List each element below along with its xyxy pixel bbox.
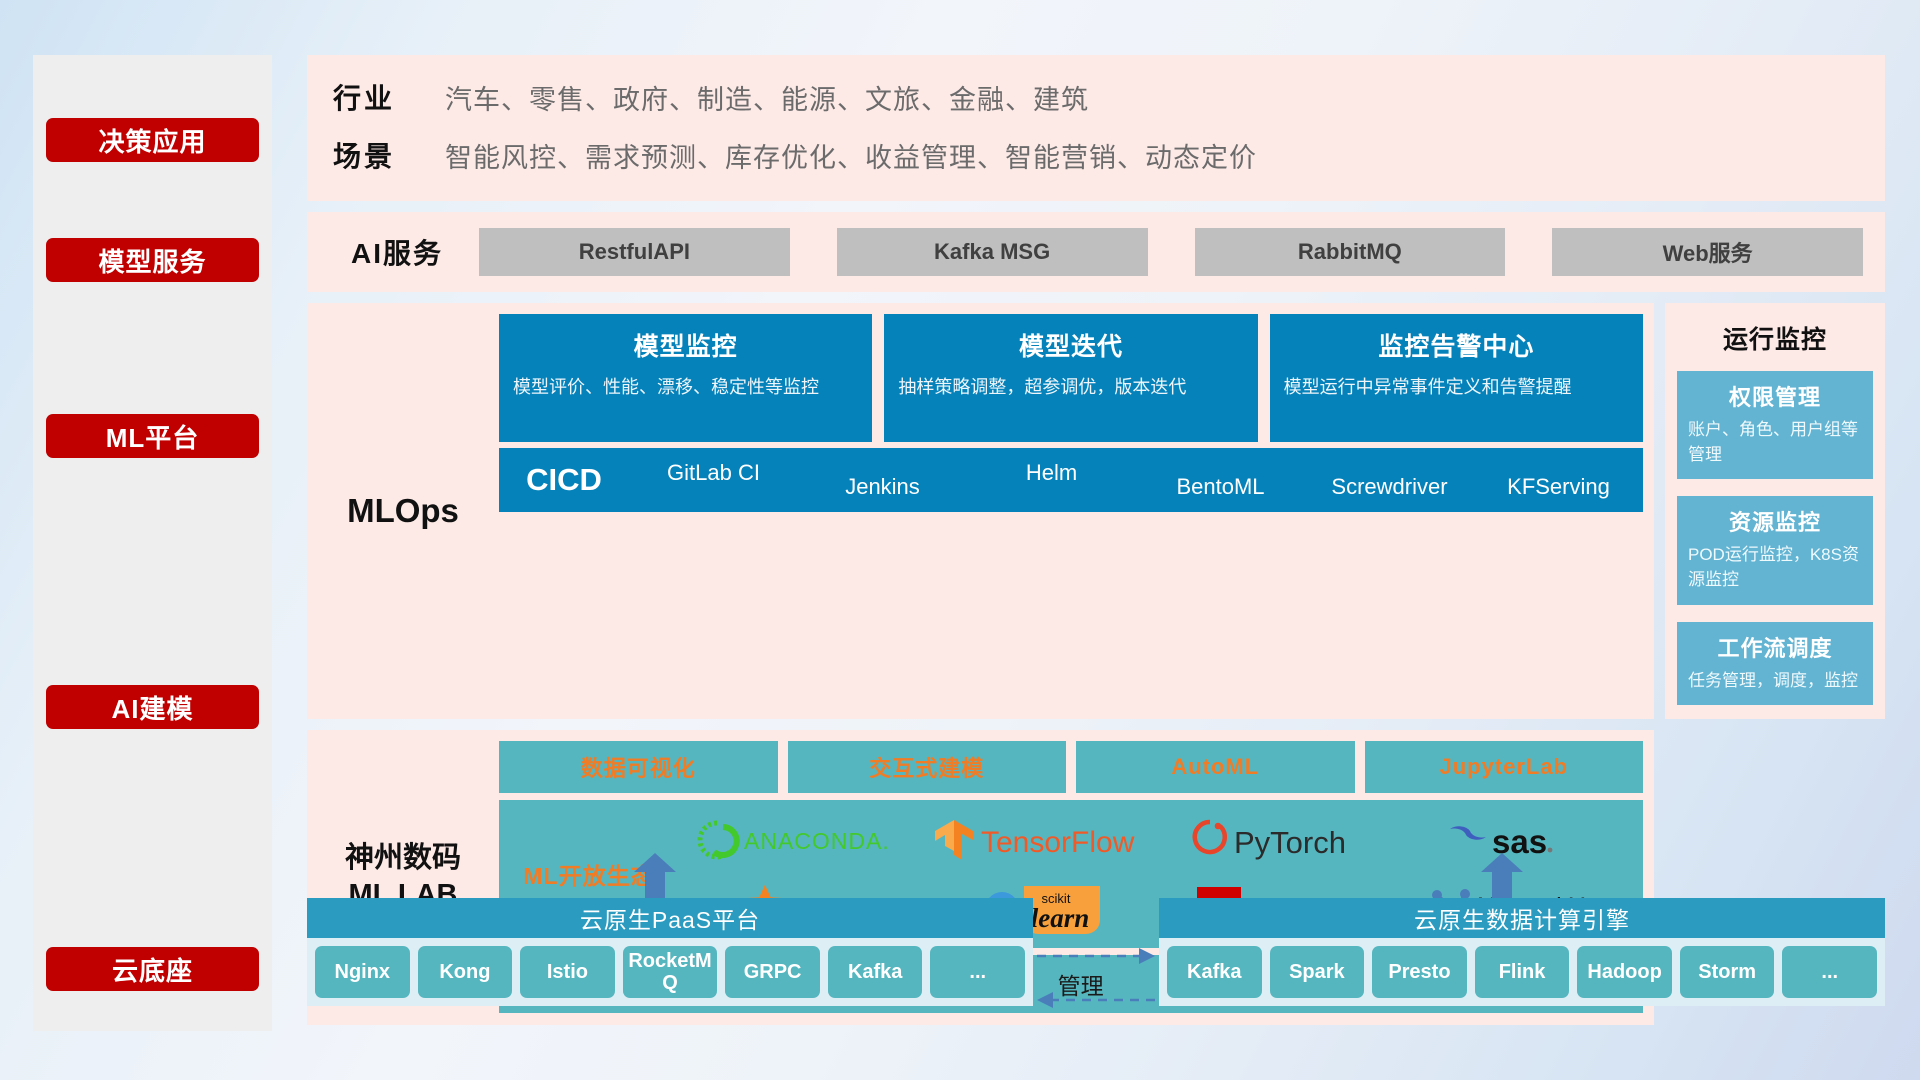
cloud-native-data-engine-box: 云原生数据计算引擎 Kafka Spark Presto Flink Hadoo… — [1159, 898, 1885, 1006]
ai-service-chip-restfulapi[interactable]: RestfulAPI — [479, 228, 790, 276]
cloud-native-paas-title: 云原生PaaS平台 — [307, 898, 1033, 938]
mlops-content: 模型监控 模型评价、性能、漂移、稳定性等监控 模型迭代 抽样策略调整，超参调优，… — [499, 314, 1643, 708]
card-title: 模型监控 — [513, 327, 858, 363]
industry-key: 行业 — [333, 77, 445, 117]
lab-tool-interactive-modeling[interactable]: 交互式建模 — [788, 741, 1067, 793]
paas-pill-kafka[interactable]: Kafka — [828, 946, 923, 998]
svg-text:TensorFlow: TensorFlow — [981, 826, 1135, 859]
cloud-native-paas-pill-list: Nginx Kong Istio RocketMQ GRPC Kafka ... — [307, 938, 1033, 1006]
ml-lab-tool-list: 数据可视化 交互式建模 AutoML JupyterLab — [499, 741, 1643, 793]
cicd-item-gitlab-ci[interactable]: GitLab CI — [629, 462, 798, 498]
layer-chip-label: 决策应用 — [98, 122, 206, 159]
cicd-item-bentoml[interactable]: BentoML — [1136, 462, 1305, 498]
mlops-card-alert-center[interactable]: 监控告警中心 模型运行中异常事件定义和告警提醒 — [1270, 314, 1643, 442]
engine-pill-kafka[interactable]: Kafka — [1167, 946, 1262, 998]
cicd-bar: CICD GitLab CI Jenkins Helm BentoML Scre… — [499, 448, 1643, 512]
scenario-value: 智能风控、需求预测、库存优化、收益管理、智能营销、动态定价 — [445, 136, 1257, 175]
engine-pill-flink[interactable]: Flink — [1475, 946, 1570, 998]
monitor-card-resource[interactable]: 资源监控 POD运行监控，K8S资源监控 — [1677, 496, 1873, 604]
cicd-item-screwdriver[interactable]: Screwdriver — [1305, 462, 1474, 498]
ai-service-chip-web-service[interactable]: Web服务 — [1552, 228, 1863, 276]
ml-platform-row: MLOps 模型监控 模型评价、性能、漂移、稳定性等监控 模型迭代 抽样策略调整… — [307, 303, 1885, 719]
chip-label: Web服务 — [1663, 236, 1753, 268]
paas-pill-istio[interactable]: Istio — [520, 946, 615, 998]
chip-label: RestfulAPI — [579, 239, 690, 265]
card-desc: 任务管理，调度，监控 — [1688, 669, 1862, 694]
mlops-card-list: 模型监控 模型评价、性能、漂移、稳定性等监控 模型迭代 抽样策略调整，超参调优，… — [499, 314, 1643, 442]
mlops-key: MLOps — [307, 314, 499, 708]
mlops-card-model-iteration[interactable]: 模型迭代 抽样策略调整，超参调优，版本迭代 — [884, 314, 1257, 442]
engine-pill-storm[interactable]: Storm — [1680, 946, 1775, 998]
card-title: 模型迭代 — [898, 327, 1243, 363]
cloud-native-data-engine-title: 云原生数据计算引擎 — [1159, 898, 1885, 938]
layer-chip-label: 模型服务 — [98, 242, 206, 279]
ai-service-chip-rabbitmq[interactable]: RabbitMQ — [1195, 228, 1506, 276]
engine-pill-more[interactable]: ... — [1782, 946, 1877, 998]
anaconda-logo: ANACONDA. — [697, 809, 912, 871]
card-desc: 模型评价、性能、漂移、稳定性等监控 — [513, 374, 858, 400]
mlops-band: MLOps 模型监控 模型评价、性能、漂移、稳定性等监控 模型迭代 抽样策略调整… — [307, 303, 1654, 719]
card-desc: 抽样策略调整，超参调优，版本迭代 — [898, 374, 1243, 400]
card-desc: 账户、角色、用户组等管理 — [1688, 418, 1862, 467]
cicd-item-helm[interactable]: Helm — [967, 462, 1136, 498]
layer-chip-ai-modeling[interactable]: AI建模 — [46, 685, 259, 729]
paas-pill-nginx[interactable]: Nginx — [315, 946, 410, 998]
monitor-card-permission[interactable]: 权限管理 账户、角色、用户组等管理 — [1677, 371, 1873, 479]
chip-label: RabbitMQ — [1298, 239, 1402, 265]
lab-tool-jupyterlab[interactable]: JupyterLab — [1365, 741, 1644, 793]
card-title: 权限管理 — [1688, 380, 1862, 412]
card-desc: 模型运行中异常事件定义和告警提醒 — [1284, 374, 1629, 400]
cicd-label: CICD — [499, 462, 629, 498]
industry-row: 行业 汽车、零售、政府、制造、能源、文旅、金融、建筑 — [333, 77, 1859, 117]
paas-pill-more[interactable]: ... — [930, 946, 1025, 998]
architecture-stack: 行业 汽车、零售、政府、制造、能源、文旅、金融、建筑 场景 智能风控、需求预测、… — [307, 55, 1885, 1025]
sas-logo: sas — [1440, 809, 1615, 871]
card-title: 资源监控 — [1688, 505, 1862, 537]
cloud-native-paas-box: 云原生PaaS平台 Nginx Kong Istio RocketMQ GRPC… — [307, 898, 1033, 1006]
monitor-card-workflow[interactable]: 工作流调度 任务管理，调度，监控 — [1677, 622, 1873, 706]
card-title: 监控告警中心 — [1284, 327, 1629, 363]
layer-chip-label: ML平台 — [106, 418, 200, 455]
up-arrow-to-lab-icon — [632, 852, 678, 896]
bidirectional-dashed-link — [1033, 944, 1159, 1014]
layer-chip-decision-app[interactable]: 决策应用 — [46, 118, 259, 162]
industry-value: 汽车、零售、政府、制造、能源、文旅、金融、建筑 — [445, 78, 1089, 117]
layer-chip-cloud-base[interactable]: 云底座 — [46, 947, 259, 991]
layer-chip-label: 云底座 — [112, 951, 193, 988]
card-title: 工作流调度 — [1688, 631, 1862, 663]
chip-label: Kafka MSG — [934, 239, 1050, 265]
mlops-card-model-monitoring[interactable]: 模型监控 模型评价、性能、漂移、稳定性等监控 — [499, 314, 872, 442]
layer-chip-model-service[interactable]: 模型服务 — [46, 238, 259, 282]
runtime-monitor-title: 运行监控 — [1677, 320, 1873, 356]
lab-tool-data-visualization[interactable]: 数据可视化 — [499, 741, 778, 793]
pytorch-logo: PyTorch — [1188, 809, 1403, 871]
ai-service-band: AI服务 RestfulAPI Kafka MSG RabbitMQ Web服务 — [307, 212, 1885, 292]
card-desc: POD运行监控，K8S资源监控 — [1688, 543, 1862, 592]
decision-application-band: 行业 汽车、零售、政府、制造、能源、文旅、金融、建筑 场景 智能风控、需求预测、… — [307, 55, 1885, 201]
ai-service-chip-kafka-msg[interactable]: Kafka MSG — [837, 228, 1148, 276]
engine-pill-presto[interactable]: Presto — [1372, 946, 1467, 998]
svg-text:PyTorch: PyTorch — [1234, 825, 1346, 860]
engine-pill-hadoop[interactable]: Hadoop — [1577, 946, 1672, 998]
svg-text:ANACONDA.: ANACONDA. — [744, 828, 890, 854]
scenario-key: 场景 — [333, 135, 445, 175]
paas-pill-rocketmq[interactable]: RocketMQ — [623, 946, 718, 998]
cicd-item-jenkins[interactable]: Jenkins — [798, 462, 967, 498]
paas-pill-kong[interactable]: Kong — [418, 946, 513, 998]
cicd-item-list: GitLab CI Jenkins Helm BentoML Screwdriv… — [629, 462, 1643, 498]
cicd-item-kfserving[interactable]: KFServing — [1474, 462, 1643, 498]
paas-pill-grpc[interactable]: GRPC — [725, 946, 820, 998]
layer-chip-ml-platform[interactable]: ML平台 — [46, 414, 259, 458]
cloud-native-data-engine-pill-list: Kafka Spark Presto Flink Hadoop Storm ..… — [1159, 938, 1885, 1006]
engine-pill-spark[interactable]: Spark — [1270, 946, 1365, 998]
tensorflow-logo: TensorFlow — [929, 809, 1179, 871]
runtime-monitor-panel: 运行监控 权限管理 账户、角色、用户组等管理 资源监控 POD运行监控，K8S资… — [1665, 303, 1885, 719]
layer-label-rail: 决策应用 模型服务 ML平台 AI建模 云底座 — [33, 55, 272, 1031]
ai-service-key: AI服务 — [329, 232, 479, 272]
scenario-row: 场景 智能风控、需求预测、库存优化、收益管理、智能营销、动态定价 — [333, 135, 1859, 175]
layer-chip-label: AI建模 — [111, 689, 193, 726]
ai-service-chip-list: RestfulAPI Kafka MSG RabbitMQ Web服务 — [479, 228, 1863, 276]
up-arrow-to-lab-icon-2 — [1479, 852, 1525, 896]
lab-tool-automl[interactable]: AutoML — [1076, 741, 1355, 793]
